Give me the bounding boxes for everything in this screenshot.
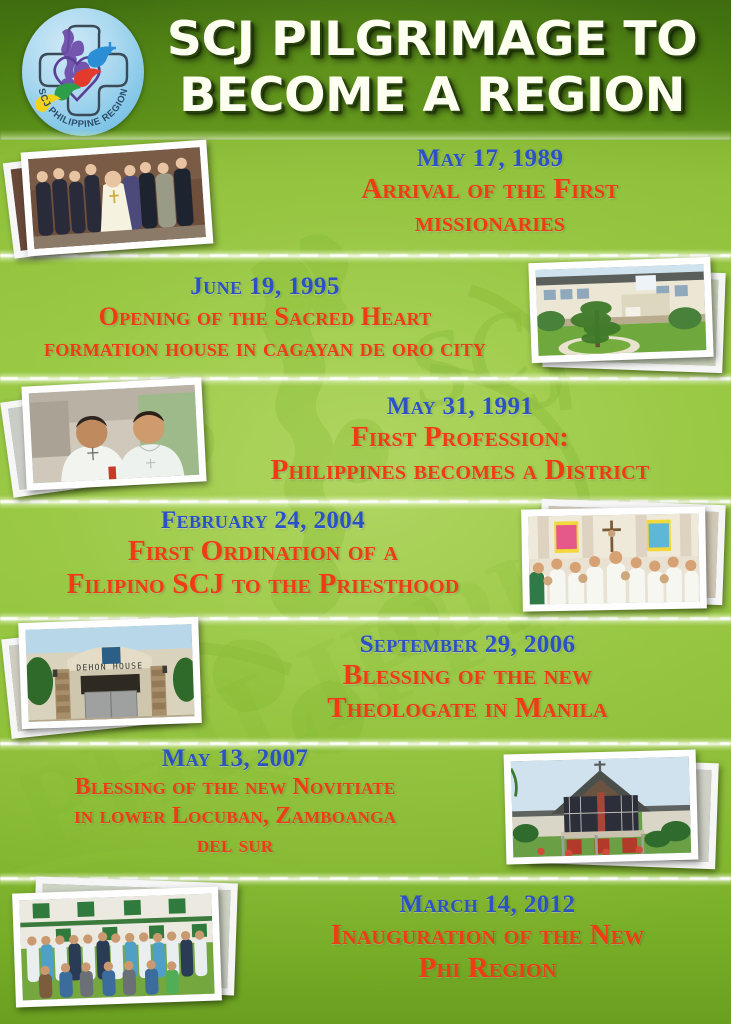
event-date: May 13, 2007 (10, 744, 460, 773)
title-line-2: BECOME A REGION (130, 68, 731, 124)
event-text-5: September 29, 2006 Blessing of the new T… (215, 630, 720, 725)
event-line: Arrival of the First (255, 173, 725, 206)
event-date: May 17, 1989 (255, 144, 725, 173)
event-line: Blessing of the new Novitiate (10, 773, 460, 802)
event-text-4: February 24, 2004 First Ordination of a … (8, 506, 518, 601)
event-date: May 31, 1991 (195, 392, 725, 421)
event-line: Inauguration of the New (255, 919, 720, 952)
photo-image (511, 757, 691, 858)
event-line: Blessing of the new (215, 659, 720, 692)
photo-image (29, 385, 199, 484)
photo-image (528, 514, 700, 605)
event-line: formation house in cagayan de oro city (10, 332, 520, 363)
scj-philippine-region-logo: SCJ PHILIPPINE REGION (22, 8, 144, 136)
event-photo-2 (530, 260, 730, 374)
event-photo-1 (8, 146, 218, 254)
event-date: June 19, 1995 (10, 272, 520, 301)
event-line: Theologate in Manila (215, 692, 720, 725)
photo-dehon-house: DEHON HOUSE (18, 617, 202, 729)
event-line: missionaries (255, 206, 725, 239)
event-text-7: March 14, 2012 Inauguration of the New P… (255, 890, 720, 985)
photo-two-priests (21, 377, 206, 490)
event-line: First Ordination of a (8, 535, 518, 568)
photo-image (28, 147, 206, 249)
event-line: First Profession: (195, 421, 725, 454)
event-date: February 24, 2004 (8, 506, 518, 535)
photo-image (19, 894, 214, 1001)
event-line: Phi Region (255, 952, 720, 985)
event-photo-4 (522, 502, 727, 612)
event-line: Philippines becomes a District (195, 454, 725, 487)
poster-header: SCJ PILGRIMAGE TO BECOME A REGION (0, 0, 731, 140)
photo-ordination (521, 506, 707, 611)
event-text-2: June 19, 1995 Opening of the Sacred Hear… (10, 272, 520, 363)
photo-formation-house (528, 257, 713, 363)
event-photo-6 (505, 752, 725, 874)
event-line: in lower Locuban, Zamboanga (10, 802, 460, 831)
event-date: September 29, 2006 (215, 630, 720, 659)
event-photo-7 (8, 880, 248, 1010)
photo-community-group (12, 886, 222, 1007)
event-photo-5: DEHON HOUSE (6, 620, 206, 738)
poster-root: scj PHILIPPINE REGION SCJ PILGRIMAGE TO … (0, 0, 731, 1024)
event-line: del sur (10, 831, 460, 860)
event-text-6: May 13, 2007 Blessing of the new Novitia… (10, 744, 460, 860)
page-title: SCJ PILGRIMAGE TO BECOME A REGION (130, 12, 731, 124)
event-photo-3 (6, 382, 206, 494)
photo-image: DEHON HOUSE (25, 624, 194, 722)
event-text-3: May 31, 1991 First Profession: Philippin… (195, 392, 725, 487)
photo-novitiate-church (504, 750, 699, 865)
logo-artwork: SCJ PHILIPPINE REGION (22, 8, 144, 136)
title-line-1: SCJ PILGRIMAGE TO (167, 12, 697, 67)
event-line: Filipino SCJ to the Priesthood (8, 568, 518, 601)
photo-pope-and-missionaries (21, 140, 214, 257)
event-date: March 14, 2012 (255, 890, 720, 919)
event-text-1: May 17, 1989 Arrival of the First missio… (255, 144, 725, 239)
photo-image (536, 264, 707, 356)
event-line: Opening of the Sacred Heart (10, 301, 520, 332)
